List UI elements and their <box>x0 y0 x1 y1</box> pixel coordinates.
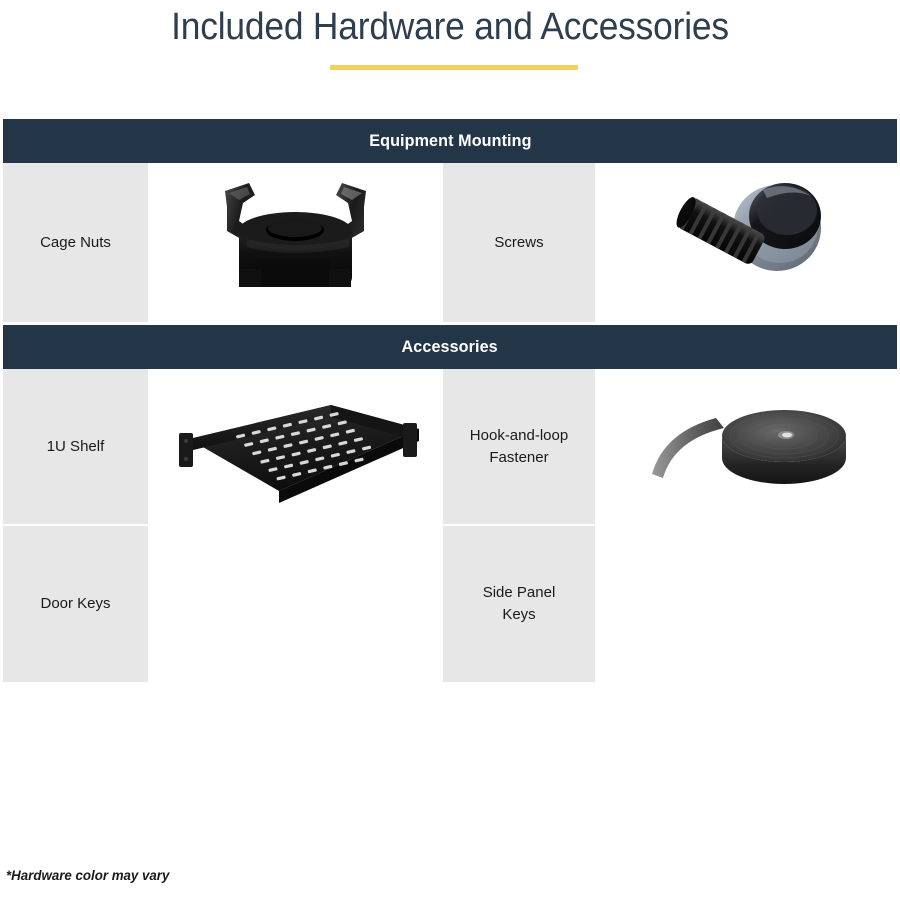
section-header-accessories: Accessories <box>3 325 897 369</box>
cell-media-door-keys <box>148 526 443 682</box>
section-header-equipment-mounting: Equipment Mounting <box>3 119 897 163</box>
cell-label-cage-nuts: Cage Nuts <box>3 163 148 322</box>
table-row: Cage Nuts <box>3 163 897 322</box>
cell-media-side-panel-keys <box>595 526 897 682</box>
hook-and-loop-roll-image <box>646 392 846 502</box>
label-text: Hook-and-loop Fastener <box>470 425 568 469</box>
page-title: Included Hardware and Accessories <box>32 6 869 49</box>
cell-label-hook-and-loop-fastener: Hook-and-loop Fastener <box>443 369 595 524</box>
cell-media-1u-shelf <box>148 369 443 524</box>
screw-image <box>651 168 841 318</box>
rack-shelf-image <box>171 387 421 507</box>
label-line-1: Side Panel <box>483 584 556 601</box>
label-text: Screws <box>494 232 543 254</box>
label-text: Cage Nuts <box>40 232 111 254</box>
label-text: Side Panel Keys <box>483 582 556 626</box>
cell-media-cage-nuts <box>148 163 443 322</box>
cell-media-screws <box>595 163 897 322</box>
hardware-accessories-table: Equipment Mounting Cage Nuts <box>3 119 897 682</box>
section-header-label: Equipment Mounting <box>369 131 531 151</box>
label-line-2: Keys <box>502 606 535 623</box>
section-header-label: Accessories <box>402 337 498 357</box>
cage-nut-image <box>203 173 388 313</box>
cell-label-screws: Screws <box>443 163 595 322</box>
title-accent-underline <box>330 65 578 70</box>
cell-media-hook-and-loop-fastener <box>595 369 897 524</box>
footnote-hardware-color: *Hardware color may vary <box>6 867 169 883</box>
label-line-2: Fastener <box>489 449 548 466</box>
table-row: 1U Shelf <box>3 369 897 524</box>
cell-label-1u-shelf: 1U Shelf <box>3 369 148 524</box>
table-row: Door Keys Side Panel Keys <box>3 526 897 682</box>
label-text: Door Keys <box>40 593 110 615</box>
label-text: 1U Shelf <box>47 436 105 458</box>
cell-label-door-keys: Door Keys <box>3 526 148 682</box>
label-line-1: Hook-and-loop <box>470 427 568 444</box>
cell-label-side-panel-keys: Side Panel Keys <box>443 526 595 682</box>
